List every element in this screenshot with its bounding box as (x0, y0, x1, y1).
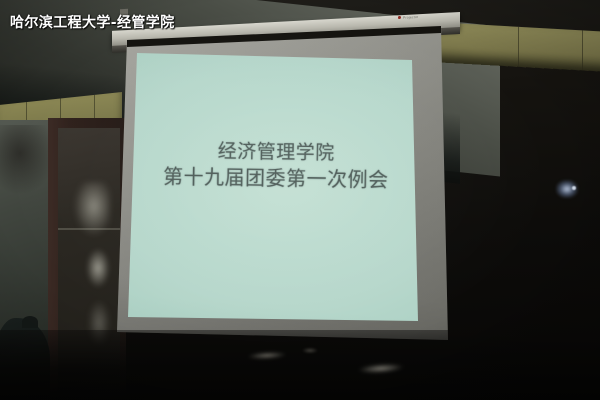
power-indicator-icon (398, 16, 401, 19)
foreground-silhouette-top (22, 316, 38, 328)
foreground-dark-band (0, 330, 600, 400)
floor-highlight-center (302, 348, 318, 353)
ambient-light-core (572, 186, 576, 190)
door-glare-upper (74, 182, 110, 236)
housing-brand-label: Projector (403, 14, 418, 19)
photo-canvas: Projector 经济管理学院 第十九届团委第一次例会 哈尔滨工程大学-经管学… (0, 0, 600, 400)
watermark-text: 哈尔滨工程大学-经管学院 (10, 12, 175, 32)
door-glare-middle (86, 248, 110, 288)
